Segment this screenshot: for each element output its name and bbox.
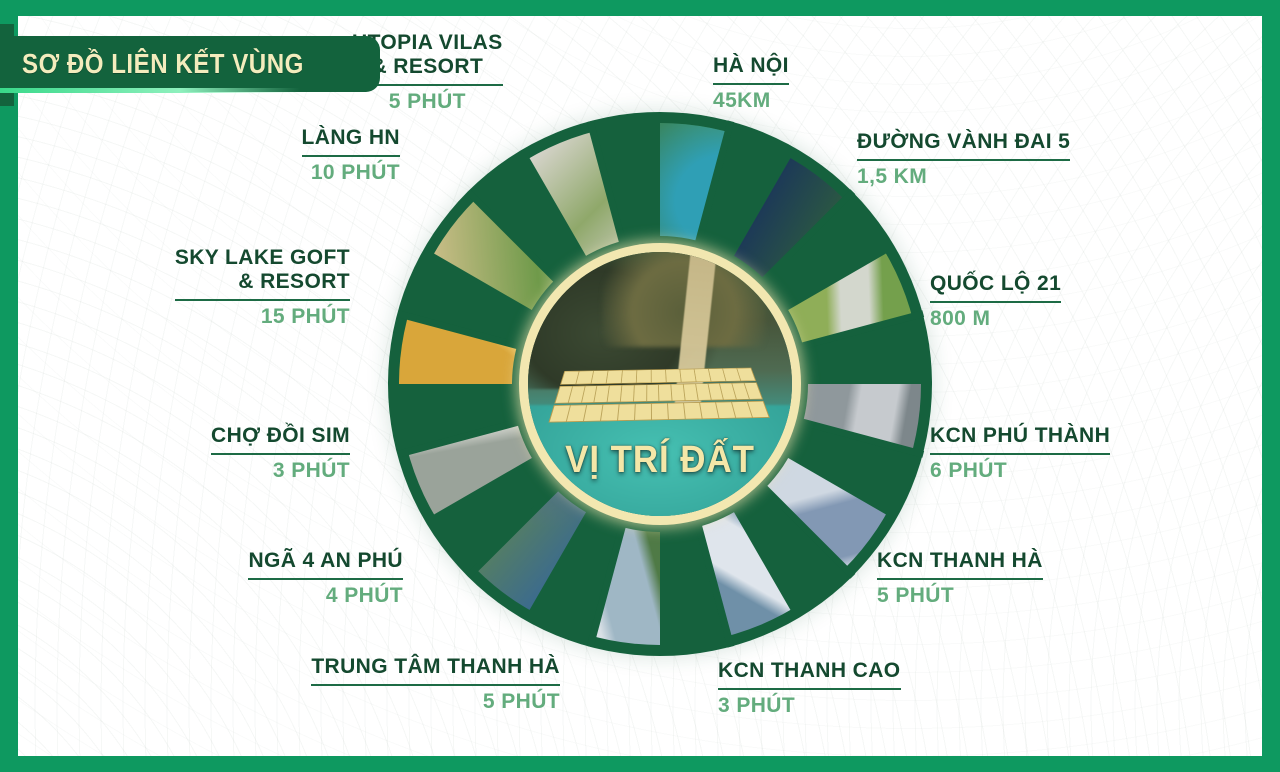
label-cho-doi-sim: CHỢ ĐỒI SIM 3 PHÚT [211,424,350,483]
label-title: KCN PHÚ THÀNH [930,424,1110,448]
label-title: NGÃ 4 AN PHÚ [248,549,403,573]
hub-gold-ring: VỊ TRÍ ĐẤT [519,243,801,525]
label-divider [211,453,350,455]
label-kcn-thanh-ha: KCN THANH HÀ 5 PHÚT [877,549,1043,608]
label-lang-hn: LÀNG HN 10 PHÚT [302,126,400,185]
label-ha-noi: HÀ NỘI 45KM [713,54,789,113]
label-value: 3 PHÚT [718,694,901,718]
label-duong-vanh-dai-5: ĐƯỜNG VÀNH ĐAI 5 1,5 KM [857,130,1070,189]
label-value: 4 PHÚT [248,584,403,608]
label-divider [718,688,901,690]
hub-aerial-photo: VỊ TRÍ ĐẤT [528,252,792,516]
label-value: 800 M [930,307,1061,331]
label-title: KCN THANH CAO [718,659,901,683]
label-kcn-phu-thanh: KCN PHÚ THÀNH 6 PHÚT [930,424,1110,483]
label-value: 3 PHÚT [211,459,350,483]
label-divider [930,301,1061,303]
label-divider [248,578,403,580]
label-divider [877,578,1043,580]
region-connection-wheel: VỊ TRÍ ĐẤT [388,112,932,656]
label-title: ĐƯỜNG VÀNH ĐAI 5 [857,130,1070,154]
banner-underline-glow [0,88,300,93]
label-value: 1,5 KM [857,165,1070,189]
center-label: VỊ TRÍ ĐẤT [539,439,782,482]
label-value: 45KM [713,89,789,113]
label-trung-tam-thanh-ha: TRUNG TÂM THANH HÀ 5 PHÚT [311,655,560,714]
label-value: 6 PHÚT [930,459,1110,483]
banner-title: SƠ ĐỒ LIÊN KẾT VÙNG [22,48,304,80]
label-title: LÀNG HN [302,126,400,150]
label-value: 5 PHÚT [311,690,560,714]
label-divider [175,299,350,301]
label-title: QUỐC LỘ 21 [930,272,1061,296]
center-hub: VỊ TRÍ ĐẤT [512,236,808,532]
label-title: TRUNG TÂM THANH HÀ [311,655,560,679]
label-divider [302,155,400,157]
page-frame: SƠ ĐỒ LIÊN KẾT VÙNG VỊ TRÍ ĐẤ [0,0,1280,772]
label-divider [857,159,1070,161]
hub-land-plots [548,368,770,424]
label-divider [311,684,560,686]
label-divider [930,453,1110,455]
label-value: 5 PHÚT [877,584,1043,608]
label-value: 10 PHÚT [302,161,400,185]
title-banner: SƠ ĐỒ LIÊN KẾT VÙNG [0,36,380,92]
label-value: 5 PHÚT [352,90,503,114]
label-kcn-thanh-cao: KCN THANH CAO 3 PHÚT [718,659,901,718]
label-title: KCN THANH HÀ [877,549,1043,573]
label-value: 15 PHÚT [175,305,350,329]
label-divider [713,83,789,85]
label-title: SKY LAKE GOFT & RESORT [175,246,350,294]
label-title: HÀ NỘI [713,54,789,78]
plot-row [554,382,763,403]
label-quoc-lo-21: QUỐC LỘ 21 800 M [930,272,1061,331]
label-nga-4-an-phu: NGÃ 4 AN PHÚ 4 PHÚT [248,549,403,608]
banner-left-accent [0,24,14,106]
label-sky-lake-goft-resort: SKY LAKE GOFT & RESORT 15 PHÚT [175,246,350,329]
label-title: CHỢ ĐỒI SIM [211,424,350,448]
